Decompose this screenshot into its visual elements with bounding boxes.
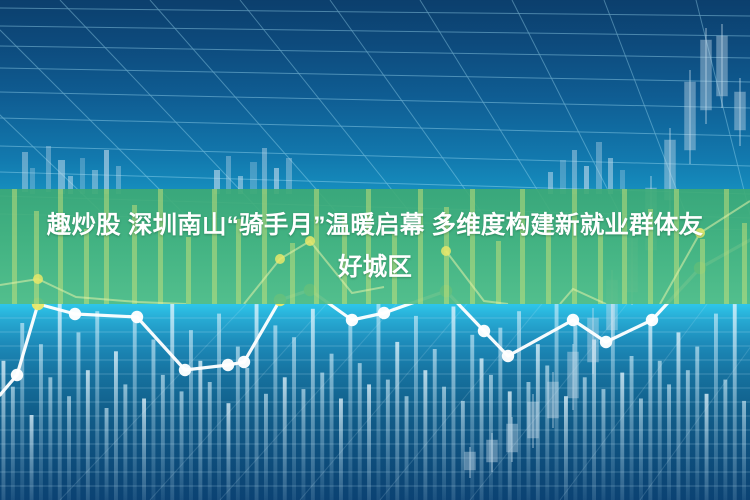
volume-bar [714,314,718,500]
volume-bar [667,384,671,500]
volume-bar [705,394,709,500]
volume-bar [339,399,343,500]
trend-marker [600,336,612,348]
volume-bar [330,354,334,500]
volume-bar [583,377,587,500]
volume-bar [236,347,240,500]
candle-body [685,82,696,150]
volume-bar [564,396,568,500]
volume-bar [142,399,146,500]
trend-marker [567,314,579,326]
volume-bar [208,382,212,500]
candle-body [548,382,559,418]
volume-bar [114,351,118,500]
horizon-bar [46,146,51,192]
candle-body [588,318,599,362]
volume-bar [58,304,62,500]
horizon-bar [22,152,28,192]
volume-bar [470,335,474,500]
volume-bar [527,382,531,500]
trend-marker [238,356,250,368]
volume-bar [283,377,287,500]
volume-bar [358,363,362,500]
candle-body [717,36,728,96]
volume-bar [433,349,437,500]
horizon-bar [262,148,267,194]
volume-bar [30,415,34,500]
volume-bar [742,401,746,500]
volume-bar [292,337,296,500]
volume-bar [517,311,521,500]
candle-body [507,424,518,452]
volume-bar [573,323,577,500]
title-band [0,189,750,304]
candle-body [735,92,746,130]
volume-bar [677,332,681,500]
volume-bar [405,396,409,500]
banner-image: 趣炒股 深圳南山“骑手月”温暖启幕 多维度构建新就业群体友 好城区 [0,0,750,500]
volume-bar [311,309,315,500]
trend-marker [131,311,143,323]
volume-bar [2,361,6,500]
volume-bar [152,340,156,500]
volume-bar [86,370,90,500]
volume-bar [442,387,446,500]
horizon-bar [104,150,109,194]
volume-bar [423,370,427,500]
volume-bar [245,368,249,500]
volume-bar [320,373,324,500]
candle-body [528,402,539,438]
volume-bar [723,380,727,500]
volume-bar [227,403,231,500]
title-band-texture [0,189,750,304]
candle-body [701,40,712,110]
volume-bar [414,316,418,500]
volume-bar [452,307,456,500]
volume-bar [480,358,484,500]
trend-marker [646,314,658,326]
volume-bar [395,342,399,500]
horizon-bar [596,142,602,194]
trend-marker [11,369,23,381]
volume-bar [105,408,109,500]
volume-bar [602,389,606,500]
volume-bar [264,394,268,500]
candle-body [568,352,579,398]
volume-bar [498,328,502,500]
volume-bar [189,330,193,500]
trend-marker [222,359,234,371]
volume-bar [733,304,737,500]
volume-bar [377,304,381,500]
trend-marker [502,350,514,362]
volume-bar [686,370,690,500]
volume-bar [198,361,202,500]
volume-bar [695,347,699,500]
volume-bar [273,325,277,500]
trend-marker [378,307,390,319]
volume-bar [11,387,15,500]
volume-bar [630,356,634,500]
volume-bar [95,311,99,500]
volume-bar [39,344,43,500]
volume-bar [620,373,624,500]
volume-bar [648,318,652,500]
volume-bar [161,375,165,500]
volume-bar [180,391,184,500]
volume-bar [67,396,71,500]
volume-bar [217,314,221,500]
volume-bar [302,389,306,500]
volume-bar [133,318,137,500]
volume-bar [367,384,371,500]
volume-bar [77,332,81,500]
trend-marker [69,308,81,320]
candle-body [465,452,476,470]
volume-bar [348,321,352,500]
trend-marker [346,314,358,326]
horizon-bars [22,142,625,194]
volume-bar [123,384,127,500]
horizon-bar [572,150,577,194]
lower-gridlines [0,318,750,486]
volume-bar [386,380,390,500]
candle-body [487,440,498,462]
volume-bar [461,401,465,500]
volume-bar [658,361,662,500]
volume-bar [639,399,643,500]
trend-marker [179,364,191,376]
volume-bar [48,377,52,500]
volume-bar [170,304,174,500]
trend-marker [478,325,490,337]
volume-bar [255,304,259,500]
